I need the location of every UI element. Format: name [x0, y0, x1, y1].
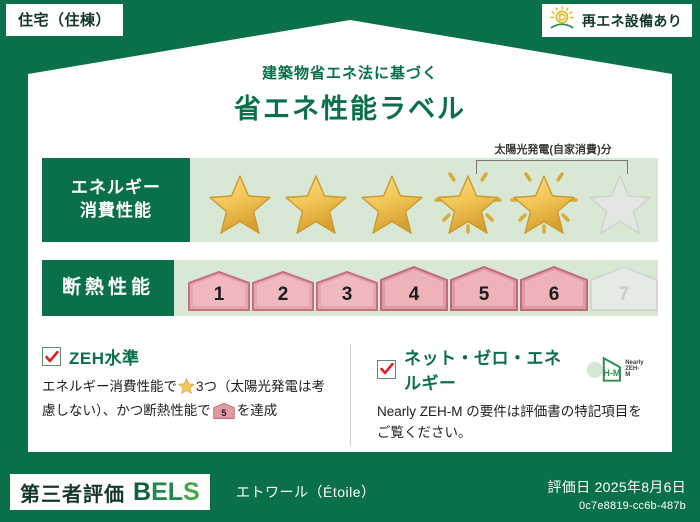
grade-house-1: 1 [188, 271, 250, 311]
grade-value: 4 [409, 284, 420, 306]
energy-consumption-row: エネルギー 消費性能 太陽光発電(自家消費)分 [42, 158, 658, 242]
star-slot-5 [508, 166, 580, 234]
grade-house-3: 3 [316, 271, 378, 311]
grade-value: 2 [278, 284, 289, 306]
star-slot-1 [204, 166, 276, 234]
grade-house-4: 4 [380, 266, 448, 311]
evaluation-id: 0c7e8819-cc6b-487b [547, 500, 686, 512]
nze-checkbox[interactable] [377, 360, 396, 379]
check-icon [380, 363, 394, 375]
star-slot-6 [584, 166, 656, 234]
star-empty-icon [588, 174, 652, 235]
star-filled-icon [208, 174, 272, 235]
solar-bracket [476, 160, 628, 174]
grade-house-6: 6 [520, 266, 588, 311]
evaluation-date-label: 評価日 [547, 479, 590, 495]
zeh-note-title: ZEH水準 [69, 344, 140, 369]
inline-grade-badge: 5 [213, 403, 235, 425]
energy-rating-panel: 太陽光発電(自家消費)分 [190, 158, 658, 242]
bels-logo: BELS [133, 478, 200, 507]
evaluation-info: 評価日 2025年8月6日 0c7e8819-cc6b-487b [547, 477, 686, 512]
star-rating [190, 166, 656, 234]
nze-note-header: ネット・ゼロ・エネルギー H-M Nearly ZEH-M [377, 344, 644, 394]
insulation-performance-label: 断熱性能 [42, 260, 174, 316]
grade-house-5: 5 [450, 266, 518, 311]
zeh-body-stars: 3つ（太陽光発電 [196, 379, 298, 394]
evaluation-date-value: 2025年8月6日 [595, 479, 686, 495]
check-icon [45, 351, 59, 363]
label-subtitle: 建築物省エネ法に基づく [0, 62, 700, 83]
nze-note-body: Nearly ZEH-M の要件は評価書の特記項目をご覧ください。 [377, 401, 644, 444]
third-party-label: 第三者評価 [20, 478, 125, 507]
zeh-note-header: ZEH水準 [42, 344, 336, 369]
bels-certification-mark: 第三者評価 BELS [10, 474, 210, 510]
star-slot-2 [280, 166, 352, 234]
energy-consumption-label: エネルギー 消費性能 [42, 158, 190, 242]
zeh-checkbox[interactable] [42, 347, 61, 366]
dwelling-type-tag: 住宅（住棟） [6, 4, 123, 36]
sun-icon [548, 5, 576, 36]
nze-note-title: ネット・ゼロ・エネルギー [404, 344, 573, 394]
renewable-equipment-badge: 再エネ設備あり [542, 4, 692, 37]
energy-label-line1: エネルギー [71, 177, 161, 200]
grade-value: 1 [214, 284, 225, 306]
renewable-badge-label: 再エネ設備あり [582, 11, 682, 31]
zeh-m-logo-text: H-M [603, 368, 620, 378]
insulation-label-text: 断熱性能 [62, 275, 154, 301]
svg-text:5: 5 [221, 408, 226, 418]
grade-house-2: 2 [252, 271, 314, 311]
zeh-body-part1: エネルギー消費性能で [42, 379, 177, 394]
insulation-performance-row: 断熱性能 1 2 [42, 260, 658, 316]
star-slot-3 [356, 166, 428, 234]
star-filled-icon [284, 174, 348, 235]
zeh-m-logo-icon: H-M Nearly ZEH-M [584, 355, 644, 383]
zeh-m-logo-sub2: ZEH-M [625, 366, 644, 379]
dwelling-type-text: 住宅（住棟） [18, 12, 111, 29]
net-zero-energy-note: ネット・ゼロ・エネルギー H-M Nearly ZEH-M Nearly ZEH… [350, 344, 658, 446]
grade-house-7: 7 [590, 266, 658, 311]
zeh-standard-note: ZEH水準 エネルギー消費性能で3つ（太陽光発電は考慮しない）、かつ断熱性能で5… [42, 344, 350, 446]
bels-letter-b: B [133, 478, 151, 506]
bels-letter-s: S [183, 478, 200, 506]
label-heading-group: 建築物省エネ法に基づく 省エネ性能ラベル [0, 62, 700, 126]
energy-performance-label: 住宅（住棟） 再エネ設備あり 建築物省エネ法に基づく [0, 0, 700, 522]
grade-value: 7 [619, 284, 630, 306]
energy-label-line2: 消費性能 [80, 200, 152, 223]
star-filled-icon [360, 174, 424, 235]
star-filled-icon [512, 174, 576, 235]
zeh-note-body: エネルギー消費性能で3つ（太陽光発電は考慮しない）、かつ断熱性能で5を達成 [42, 376, 336, 426]
zeh-body-part3: を達成 [237, 403, 278, 418]
label-title: 省エネ性能ラベル [0, 87, 700, 126]
grade-value: 5 [479, 284, 490, 306]
insulation-grade-panel: 1 2 3 [174, 260, 658, 316]
notes-section: ZEH水準 エネルギー消費性能で3つ（太陽光発電は考慮しない）、かつ断熱性能で5… [42, 344, 658, 446]
bels-letter-l: L [168, 478, 183, 506]
solar-bracket-label: 太陽光発電(自家消費)分 [448, 141, 658, 157]
bels-letter-e: E [151, 478, 168, 506]
evaluation-date-line: 評価日 2025年8月6日 [547, 477, 686, 497]
brand-name: エトワール（Étoile） [236, 482, 376, 502]
inline-star-icon [178, 378, 195, 400]
star-slot-4 [432, 166, 504, 234]
star-filled-icon [436, 174, 500, 235]
insulation-grade-scale: 1 2 3 [174, 266, 658, 311]
grade-value: 3 [342, 284, 353, 306]
grade-value: 6 [549, 284, 560, 306]
